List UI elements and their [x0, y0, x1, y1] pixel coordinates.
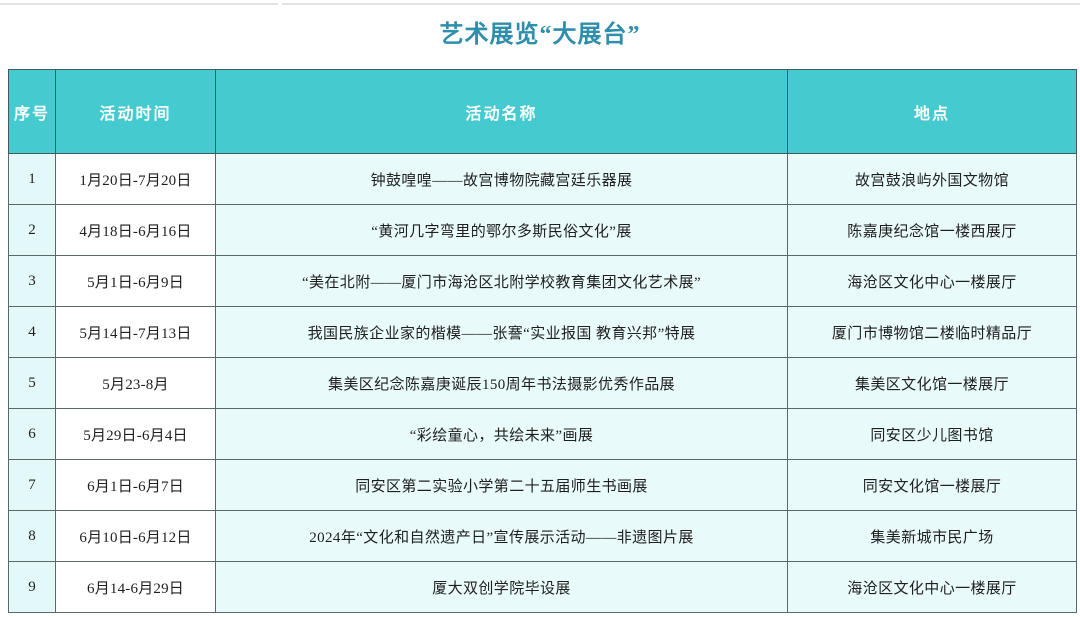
cell-place: 同安区少儿图书馆 — [788, 409, 1077, 460]
cell-time: 6月1日-6月7日 — [56, 460, 216, 511]
cell-index: 8 — [9, 511, 56, 562]
cell-name: 厦大双创学院毕设展 — [216, 562, 788, 613]
cell-place: 陈嘉庚纪念馆一楼西展厅 — [788, 205, 1077, 256]
cell-time: 6月14-6月29日 — [56, 562, 216, 613]
cell-time: 6月10日-6月12日 — [56, 511, 216, 562]
cell-name: 集美区纪念陈嘉庚诞辰150周年书法摄影优秀作品展 — [216, 358, 788, 409]
cell-name: 2024年“文化和自然遗产日”宣传展示活动——非遗图片展 — [216, 511, 788, 562]
table-header: 序号 活动时间 活动名称 地点 — [9, 70, 1077, 154]
page-title: 艺术展览“大展台” — [440, 23, 641, 47]
cell-place: 故宫鼓浪屿外国文物馆 — [788, 154, 1077, 205]
table-body: 1 1月20日-7月20日 钟鼓喤喤——故宫博物院藏宫廷乐器展 故宫鼓浪屿外国文… — [9, 154, 1077, 613]
cell-time: 5月14日-7月13日 — [56, 307, 216, 358]
table-row: 9 6月14-6月29日 厦大双创学院毕设展 海沧区文化中心一楼展厅 — [9, 562, 1077, 613]
column-header-name: 活动名称 — [216, 70, 788, 154]
cell-index: 4 — [9, 307, 56, 358]
cell-place: 海沧区文化中心一楼展厅 — [788, 562, 1077, 613]
cell-index: 6 — [9, 409, 56, 460]
table-row: 7 6月1日-6月7日 同安区第二实验小学第二十五届师生书画展 同安文化馆一楼展… — [9, 460, 1077, 511]
table-row: 5 5月23-8月 集美区纪念陈嘉庚诞辰150周年书法摄影优秀作品展 集美区文化… — [9, 358, 1077, 409]
table-row: 4 5月14日-7月13日 我国民族企业家的楷模——张謇“实业报国 教育兴邦”特… — [9, 307, 1077, 358]
column-header-index: 序号 — [9, 70, 56, 154]
table-row: 1 1月20日-7月20日 钟鼓喤喤——故宫博物院藏宫廷乐器展 故宫鼓浪屿外国文… — [9, 154, 1077, 205]
cell-name: “彩绘童心，共绘未来”画展 — [216, 409, 788, 460]
table-row: 2 4月18日-6月16日 “黄河几字弯里的鄂尔多斯民俗文化”展 陈嘉庚纪念馆一… — [9, 205, 1077, 256]
exhibition-schedule-page: 艺术展览“大展台” 序号 活动时间 活动名称 地点 1 1月20日-7月20日 … — [0, 0, 1080, 617]
title-bar: 艺术展览“大展台” — [0, 0, 1080, 69]
cell-index: 3 — [9, 256, 56, 307]
table-header-row: 序号 活动时间 活动名称 地点 — [9, 70, 1077, 154]
cell-index: 5 — [9, 358, 56, 409]
cell-index: 2 — [9, 205, 56, 256]
cell-name: 我国民族企业家的楷模——张謇“实业报国 教育兴邦”特展 — [216, 307, 788, 358]
cell-place: 厦门市博物馆二楼临时精品厅 — [788, 307, 1077, 358]
cell-time: 5月29日-6月4日 — [56, 409, 216, 460]
table-row: 3 5月1日-6月9日 “美在北附——厦门市海沧区北附学校教育集团文化艺术展” … — [9, 256, 1077, 307]
table-row: 8 6月10日-6月12日 2024年“文化和自然遗产日”宣传展示活动——非遗图… — [9, 511, 1077, 562]
cell-index: 9 — [9, 562, 56, 613]
cell-place: 集美区文化馆一楼展厅 — [788, 358, 1077, 409]
column-header-place: 地点 — [788, 70, 1077, 154]
cell-name: 同安区第二实验小学第二十五届师生书画展 — [216, 460, 788, 511]
cell-place: 集美新城市民广场 — [788, 511, 1077, 562]
exhibition-schedule-table: 序号 活动时间 活动名称 地点 1 1月20日-7月20日 钟鼓喤喤——故宫博物… — [8, 69, 1077, 613]
cell-name: “美在北附——厦门市海沧区北附学校教育集团文化艺术展” — [216, 256, 788, 307]
cell-time: 1月20日-7月20日 — [56, 154, 216, 205]
cell-time: 4月18日-6月16日 — [56, 205, 216, 256]
cell-place: 同安文化馆一楼展厅 — [788, 460, 1077, 511]
table-row: 6 5月29日-6月4日 “彩绘童心，共绘未来”画展 同安区少儿图书馆 — [9, 409, 1077, 460]
cell-time: 5月23-8月 — [56, 358, 216, 409]
cell-name: “黄河几字弯里的鄂尔多斯民俗文化”展 — [216, 205, 788, 256]
column-header-time: 活动时间 — [56, 70, 216, 154]
cell-place: 海沧区文化中心一楼展厅 — [788, 256, 1077, 307]
cell-time: 5月1日-6月9日 — [56, 256, 216, 307]
cell-index: 1 — [9, 154, 56, 205]
cell-name: 钟鼓喤喤——故宫博物院藏宫廷乐器展 — [216, 154, 788, 205]
cell-index: 7 — [9, 460, 56, 511]
